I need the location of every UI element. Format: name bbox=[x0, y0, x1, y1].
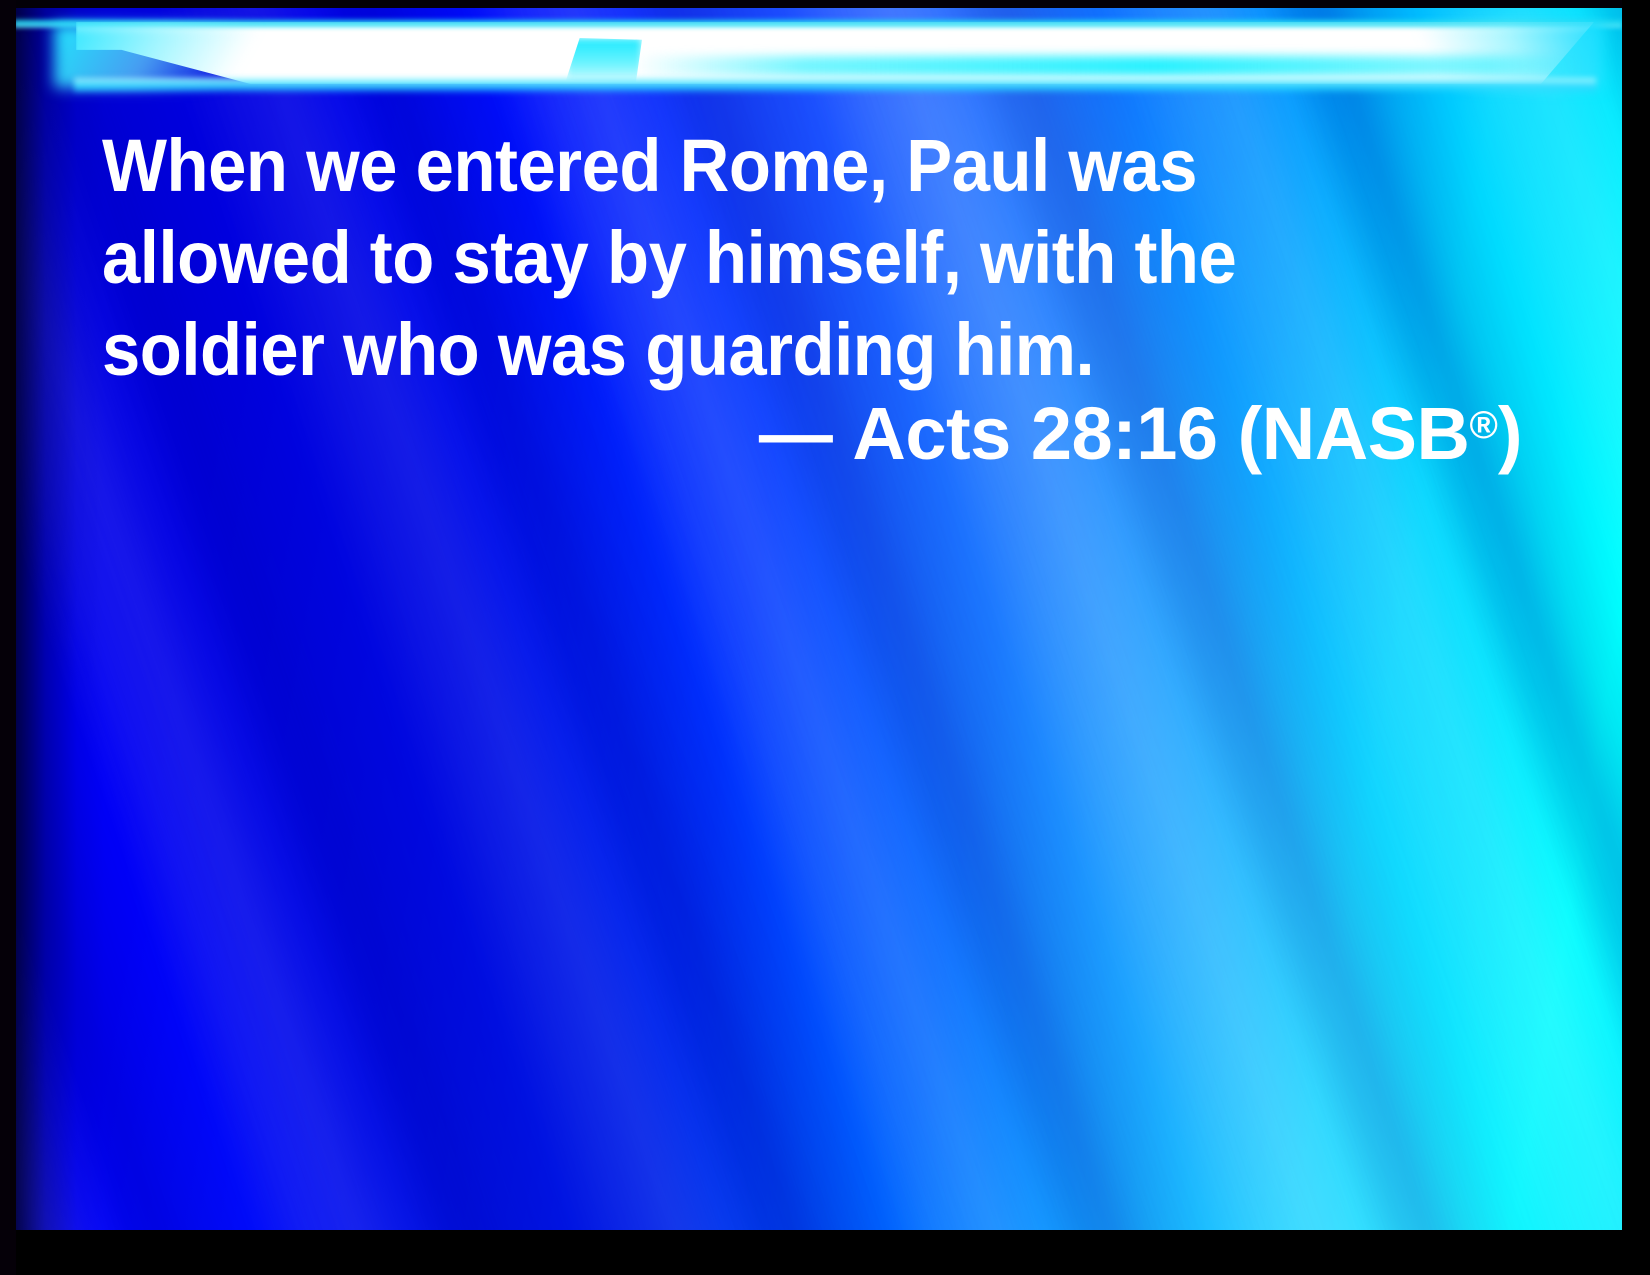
attribution-reference: Acts 28:16 bbox=[852, 392, 1217, 475]
verse-text-block: When we entered Rome, Paul was allowed t… bbox=[102, 120, 1522, 396]
top-accent-band bbox=[14, 12, 1622, 94]
accent-band-cyan-streak bbox=[634, 56, 1582, 76]
slide-canvas: When we entered Rome, Paul was allowed t… bbox=[14, 8, 1622, 1230]
attribution-dash: — bbox=[759, 392, 833, 475]
verse-attribution: — Acts 28:16 (NASB®) bbox=[102, 380, 1522, 480]
background-left-shadow bbox=[14, 8, 104, 1230]
registered-trademark-icon: ® bbox=[1469, 404, 1497, 447]
verse-body-text: When we entered Rome, Paul was allowed t… bbox=[102, 120, 1423, 396]
frame-top-border bbox=[0, 0, 1650, 8]
attribution-version-close: ) bbox=[1498, 392, 1522, 475]
attribution-version-open: (NASB bbox=[1238, 392, 1470, 475]
accent-band-bottom-edge bbox=[74, 78, 1596, 94]
frame-bottom-border bbox=[0, 1230, 1650, 1275]
bible-verse-slide: When we entered Rome, Paul was allowed t… bbox=[0, 0, 1650, 1275]
frame-right-border bbox=[1622, 0, 1650, 1275]
